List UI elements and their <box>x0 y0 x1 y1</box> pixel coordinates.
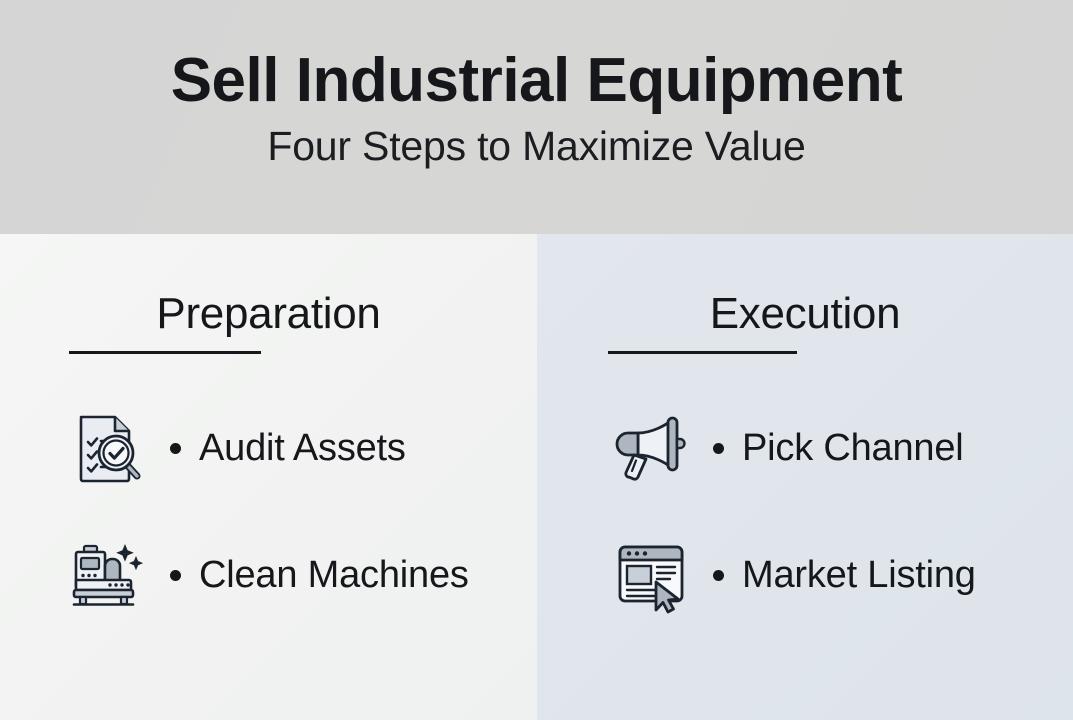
bullet-marker <box>713 570 724 581</box>
panel-rule-execution <box>608 351 797 354</box>
list-item-label: Audit Assets <box>199 427 406 470</box>
megaphone-icon <box>605 409 697 487</box>
list-item-label: Pick Channel <box>742 427 964 470</box>
bullet-marker <box>170 443 181 454</box>
list-item: Audit Assets <box>0 402 537 494</box>
list-item: Market Listing <box>537 529 1073 621</box>
page-title: Sell Industrial Equipment <box>171 48 903 113</box>
document-checklist-magnifier-icon <box>60 409 152 487</box>
panel-rule-preparation <box>69 351 261 354</box>
panels-container: Preparation <box>0 234 1073 720</box>
list-item-label: Market Listing <box>742 554 976 597</box>
industrial-machine-sparkle-icon <box>60 536 152 614</box>
panel-execution: Execution <box>537 234 1073 720</box>
panel-heading-execution: Execution <box>537 292 1073 336</box>
list-item: Pick Channel <box>537 402 1073 494</box>
bullet-marker <box>713 443 724 454</box>
browser-window-cursor-icon <box>605 536 697 614</box>
list-item-label: Clean Machines <box>199 554 469 597</box>
list-item: Clean Machines <box>0 529 537 621</box>
header-band: Sell Industrial Equipment Four Steps to … <box>0 0 1073 234</box>
infographic-canvas: Sell Industrial Equipment Four Steps to … <box>0 0 1073 720</box>
bullet-marker <box>170 570 181 581</box>
panel-preparation: Preparation <box>0 234 537 720</box>
page-subtitle: Four Steps to Maximize Value <box>267 125 805 168</box>
panel-heading-preparation: Preparation <box>0 292 537 336</box>
